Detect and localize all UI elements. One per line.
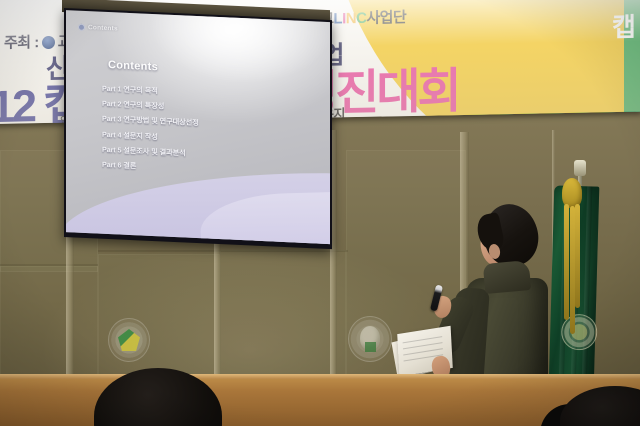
university-seal-green-icon [108, 318, 150, 362]
wall-seam-horizontal [98, 250, 348, 252]
flag-tassel-cord [575, 204, 580, 308]
banner-edge-text: 캡 [612, 14, 638, 42]
flag-tassel [560, 178, 582, 328]
slide-agenda-list: Part 1 연구의 목적 Part 2 연구의 특장성 Part 3 연구방법… [102, 84, 199, 180]
slide-contents-badge-label: Contents [88, 24, 118, 32]
list-item: Part 5 설문조사 및 결과분석 [102, 144, 199, 158]
wall-panel [98, 254, 220, 384]
slide-title: Contents [108, 59, 158, 73]
banner-host-label: 주최 : [4, 34, 39, 52]
slide-contents-badge: Contents [78, 24, 118, 33]
projection-screen-surface: Contents Contents Part 1 연구의 목적 Part 2 연… [66, 10, 330, 244]
wall-panel [220, 250, 346, 384]
list-item: Part 2 연구의 특장성 [102, 99, 199, 113]
banner-org-suffix: 사업단 [366, 9, 406, 27]
list-item: Part 3 연구방법 및 연구대상선정 [102, 114, 199, 128]
presentation-room-scene: 주최 :교육 학교LINC사업단 산 사업 12 캡 경진대회 입 운지 캡 C… [0, 0, 640, 426]
flag-tassel-cord [564, 204, 569, 320]
stage-platform-edge [0, 374, 640, 379]
projection-screen-frame: Contents Contents Part 1 연구의 목적 Part 2 연… [64, 8, 332, 249]
university-seal-mascot-icon [348, 316, 392, 362]
list-item: Part 4 설문지 작성 [102, 129, 199, 143]
list-item: Part 6 결론 [102, 160, 199, 174]
flag-finial-icon [574, 160, 586, 176]
wall-seam-horizontal [0, 264, 98, 266]
seal-green-shape [118, 329, 140, 351]
wall-panel [0, 266, 98, 386]
list-item: Part 1 연구의 목적 [102, 84, 199, 98]
linc-wordmark: LINC [333, 10, 366, 28]
contents-badge-icon [78, 24, 85, 31]
presenter-jacket-collar [483, 260, 531, 294]
seal-mascot-book [365, 342, 376, 352]
